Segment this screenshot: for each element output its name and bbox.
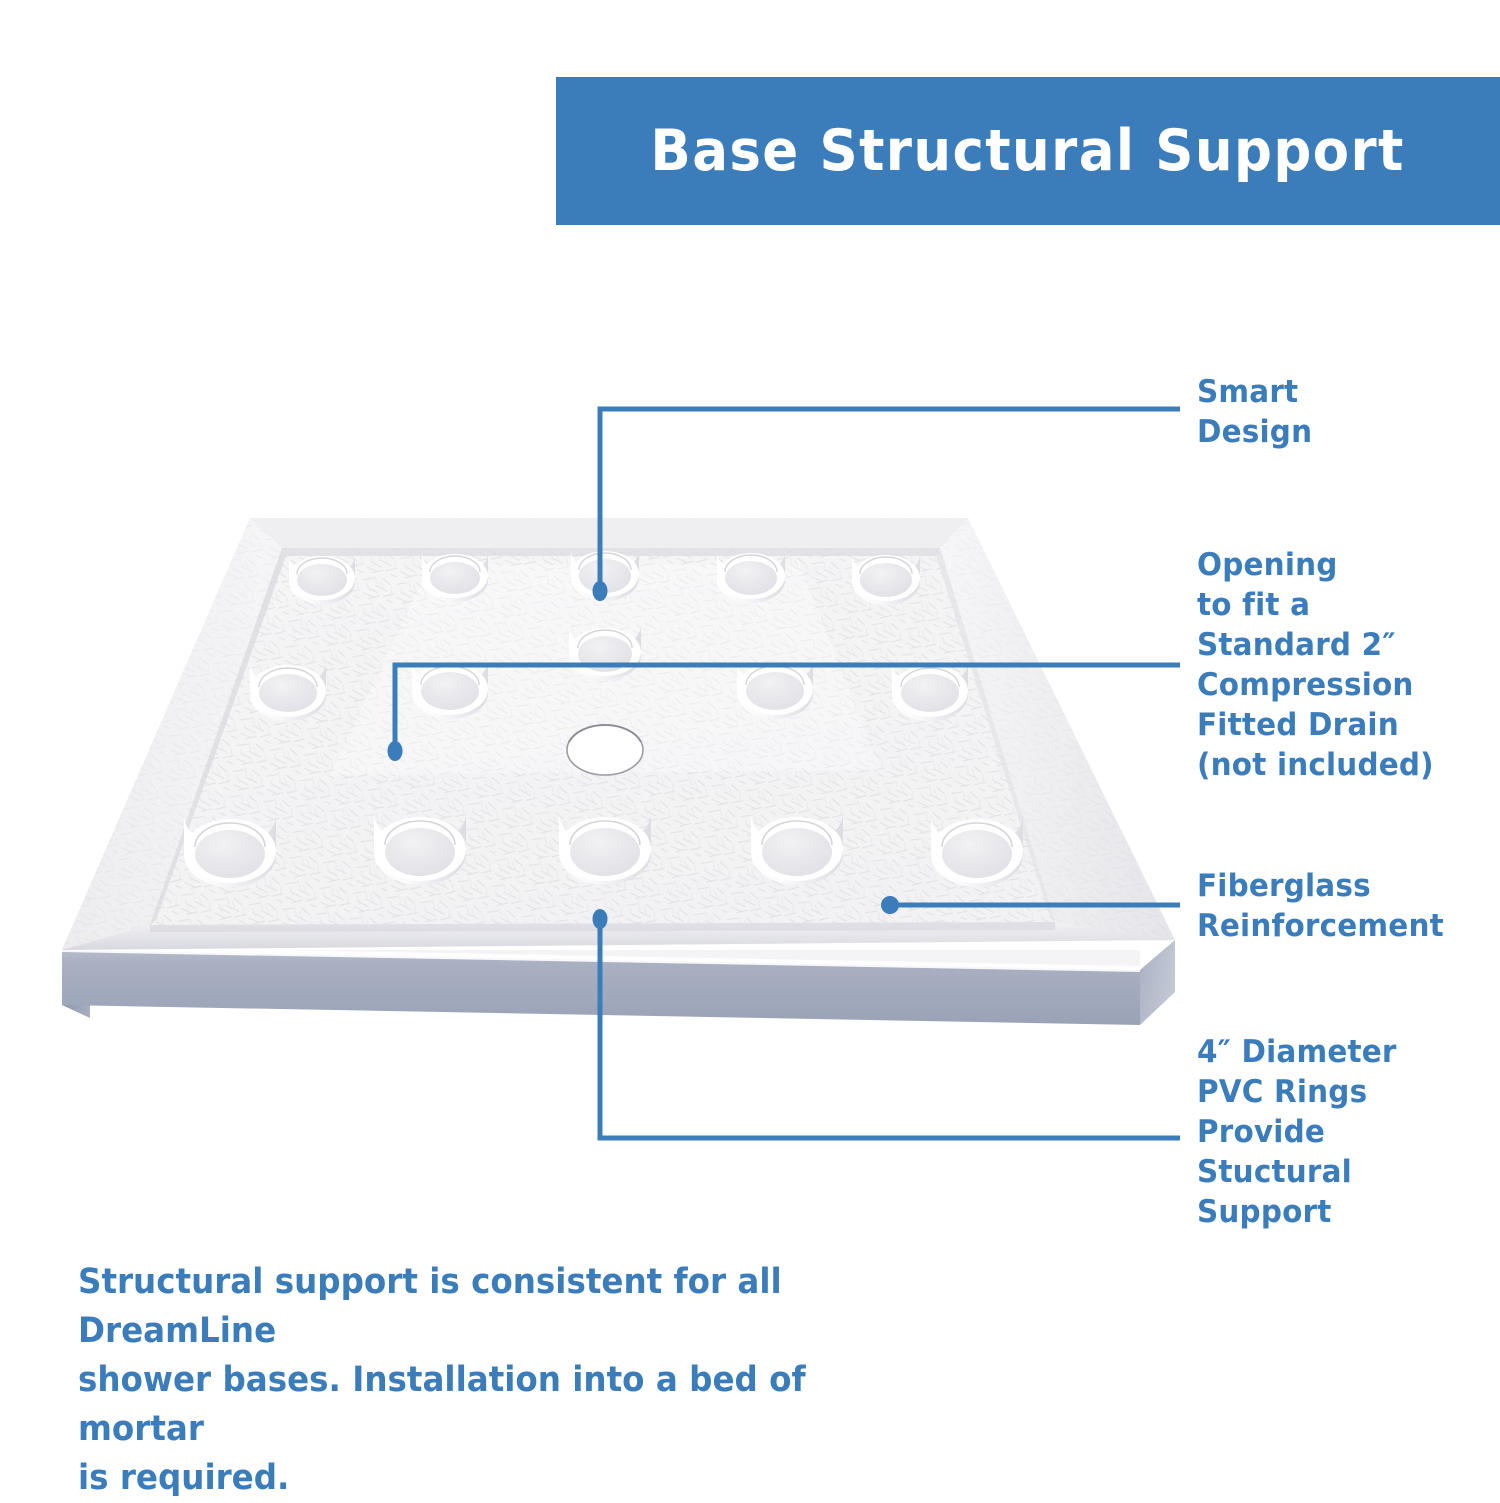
callout-line: Provide [1197, 1112, 1397, 1152]
callout-line: Fitted Drain [1197, 705, 1434, 745]
callout-line: Stuctural [1197, 1152, 1397, 1192]
caption-line: Structural support is consistent for all… [78, 1258, 943, 1356]
pvc-ring [571, 550, 639, 601]
callout-line: to fit a [1197, 585, 1434, 625]
callout-line: Standard 2″ [1197, 625, 1434, 665]
callout-line: (not included) [1197, 745, 1434, 785]
page-title: Base Structural Support [651, 123, 1405, 180]
callout-drain-opening: Opening to fit a Standard 2″ Compression… [1197, 545, 1434, 785]
footer-caption: Structural support is consistent for all… [78, 1258, 943, 1503]
caption-line: is required. [78, 1454, 943, 1503]
callout-line: Reinforcement [1197, 906, 1444, 946]
pvc-ring [852, 554, 920, 605]
callout-line: Compression [1197, 665, 1434, 705]
callout-line: Opening [1197, 545, 1434, 585]
pvc-ring [717, 552, 785, 603]
caption-line: shower bases. Installation into a bed of… [78, 1356, 943, 1454]
callout-line: Support [1197, 1192, 1397, 1232]
pvc-ring [289, 555, 355, 604]
infographic-canvas: Base Structural Support [0, 0, 1500, 1500]
callout-pvc-rings: 4″ Diameter PVC Rings Provide Stuctural … [1197, 1032, 1397, 1232]
callout-smart-design: Smart Design [1197, 372, 1312, 452]
callout-fiberglass-reinforcement: Fiberglass Reinforcement [1197, 866, 1444, 946]
callout-line: Smart [1197, 372, 1312, 412]
callout-line: 4″ Diameter [1197, 1032, 1397, 1072]
title-banner: Base Structural Support [556, 77, 1500, 225]
callout-line: PVC Rings [1197, 1072, 1397, 1112]
pvc-ring [422, 553, 488, 602]
base-body [62, 940, 1175, 1025]
callout-line: Fiberglass [1197, 866, 1444, 906]
callout-line: Design [1197, 412, 1312, 452]
shower-base-illustration [0, 470, 1200, 1040]
drain-opening [567, 725, 643, 775]
